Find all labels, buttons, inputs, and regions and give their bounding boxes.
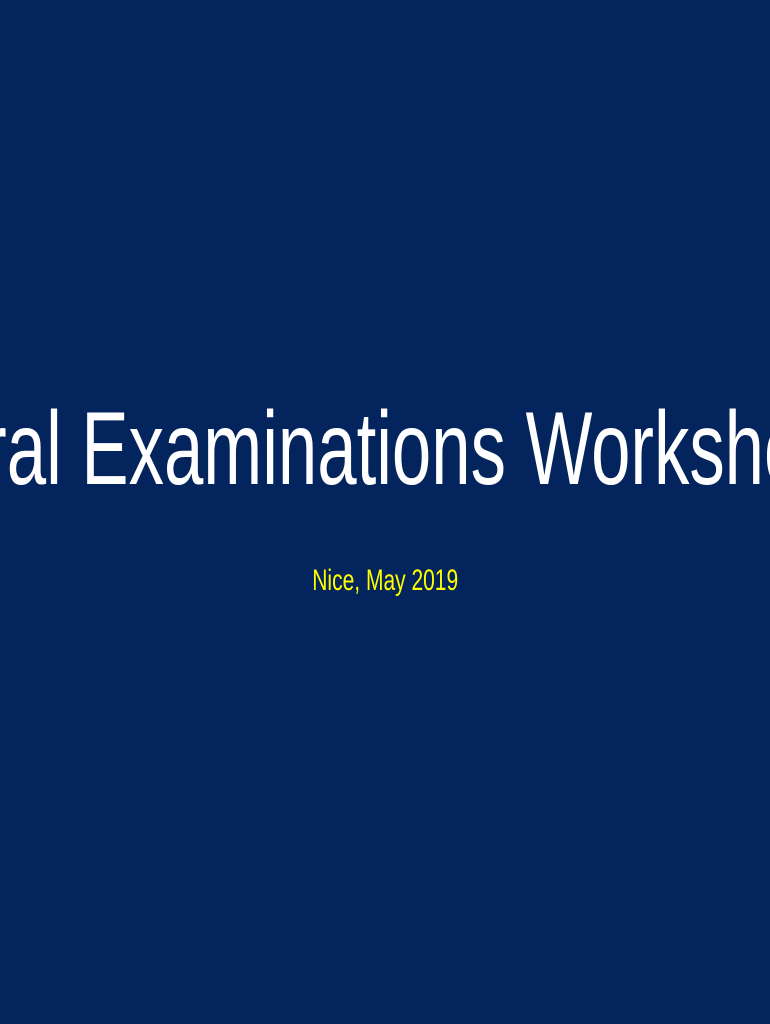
page-title: Oral Examinations Workshop [0, 396, 770, 502]
title-slide-text-block: Oral Examinations Workshop Nice, May 201… [0, 0, 770, 1024]
slide-subtitle: Nice, May 2019 [312, 564, 458, 597]
presentation-slide: Oral Examinations Workshop Nice, May 201… [0, 0, 770, 1024]
